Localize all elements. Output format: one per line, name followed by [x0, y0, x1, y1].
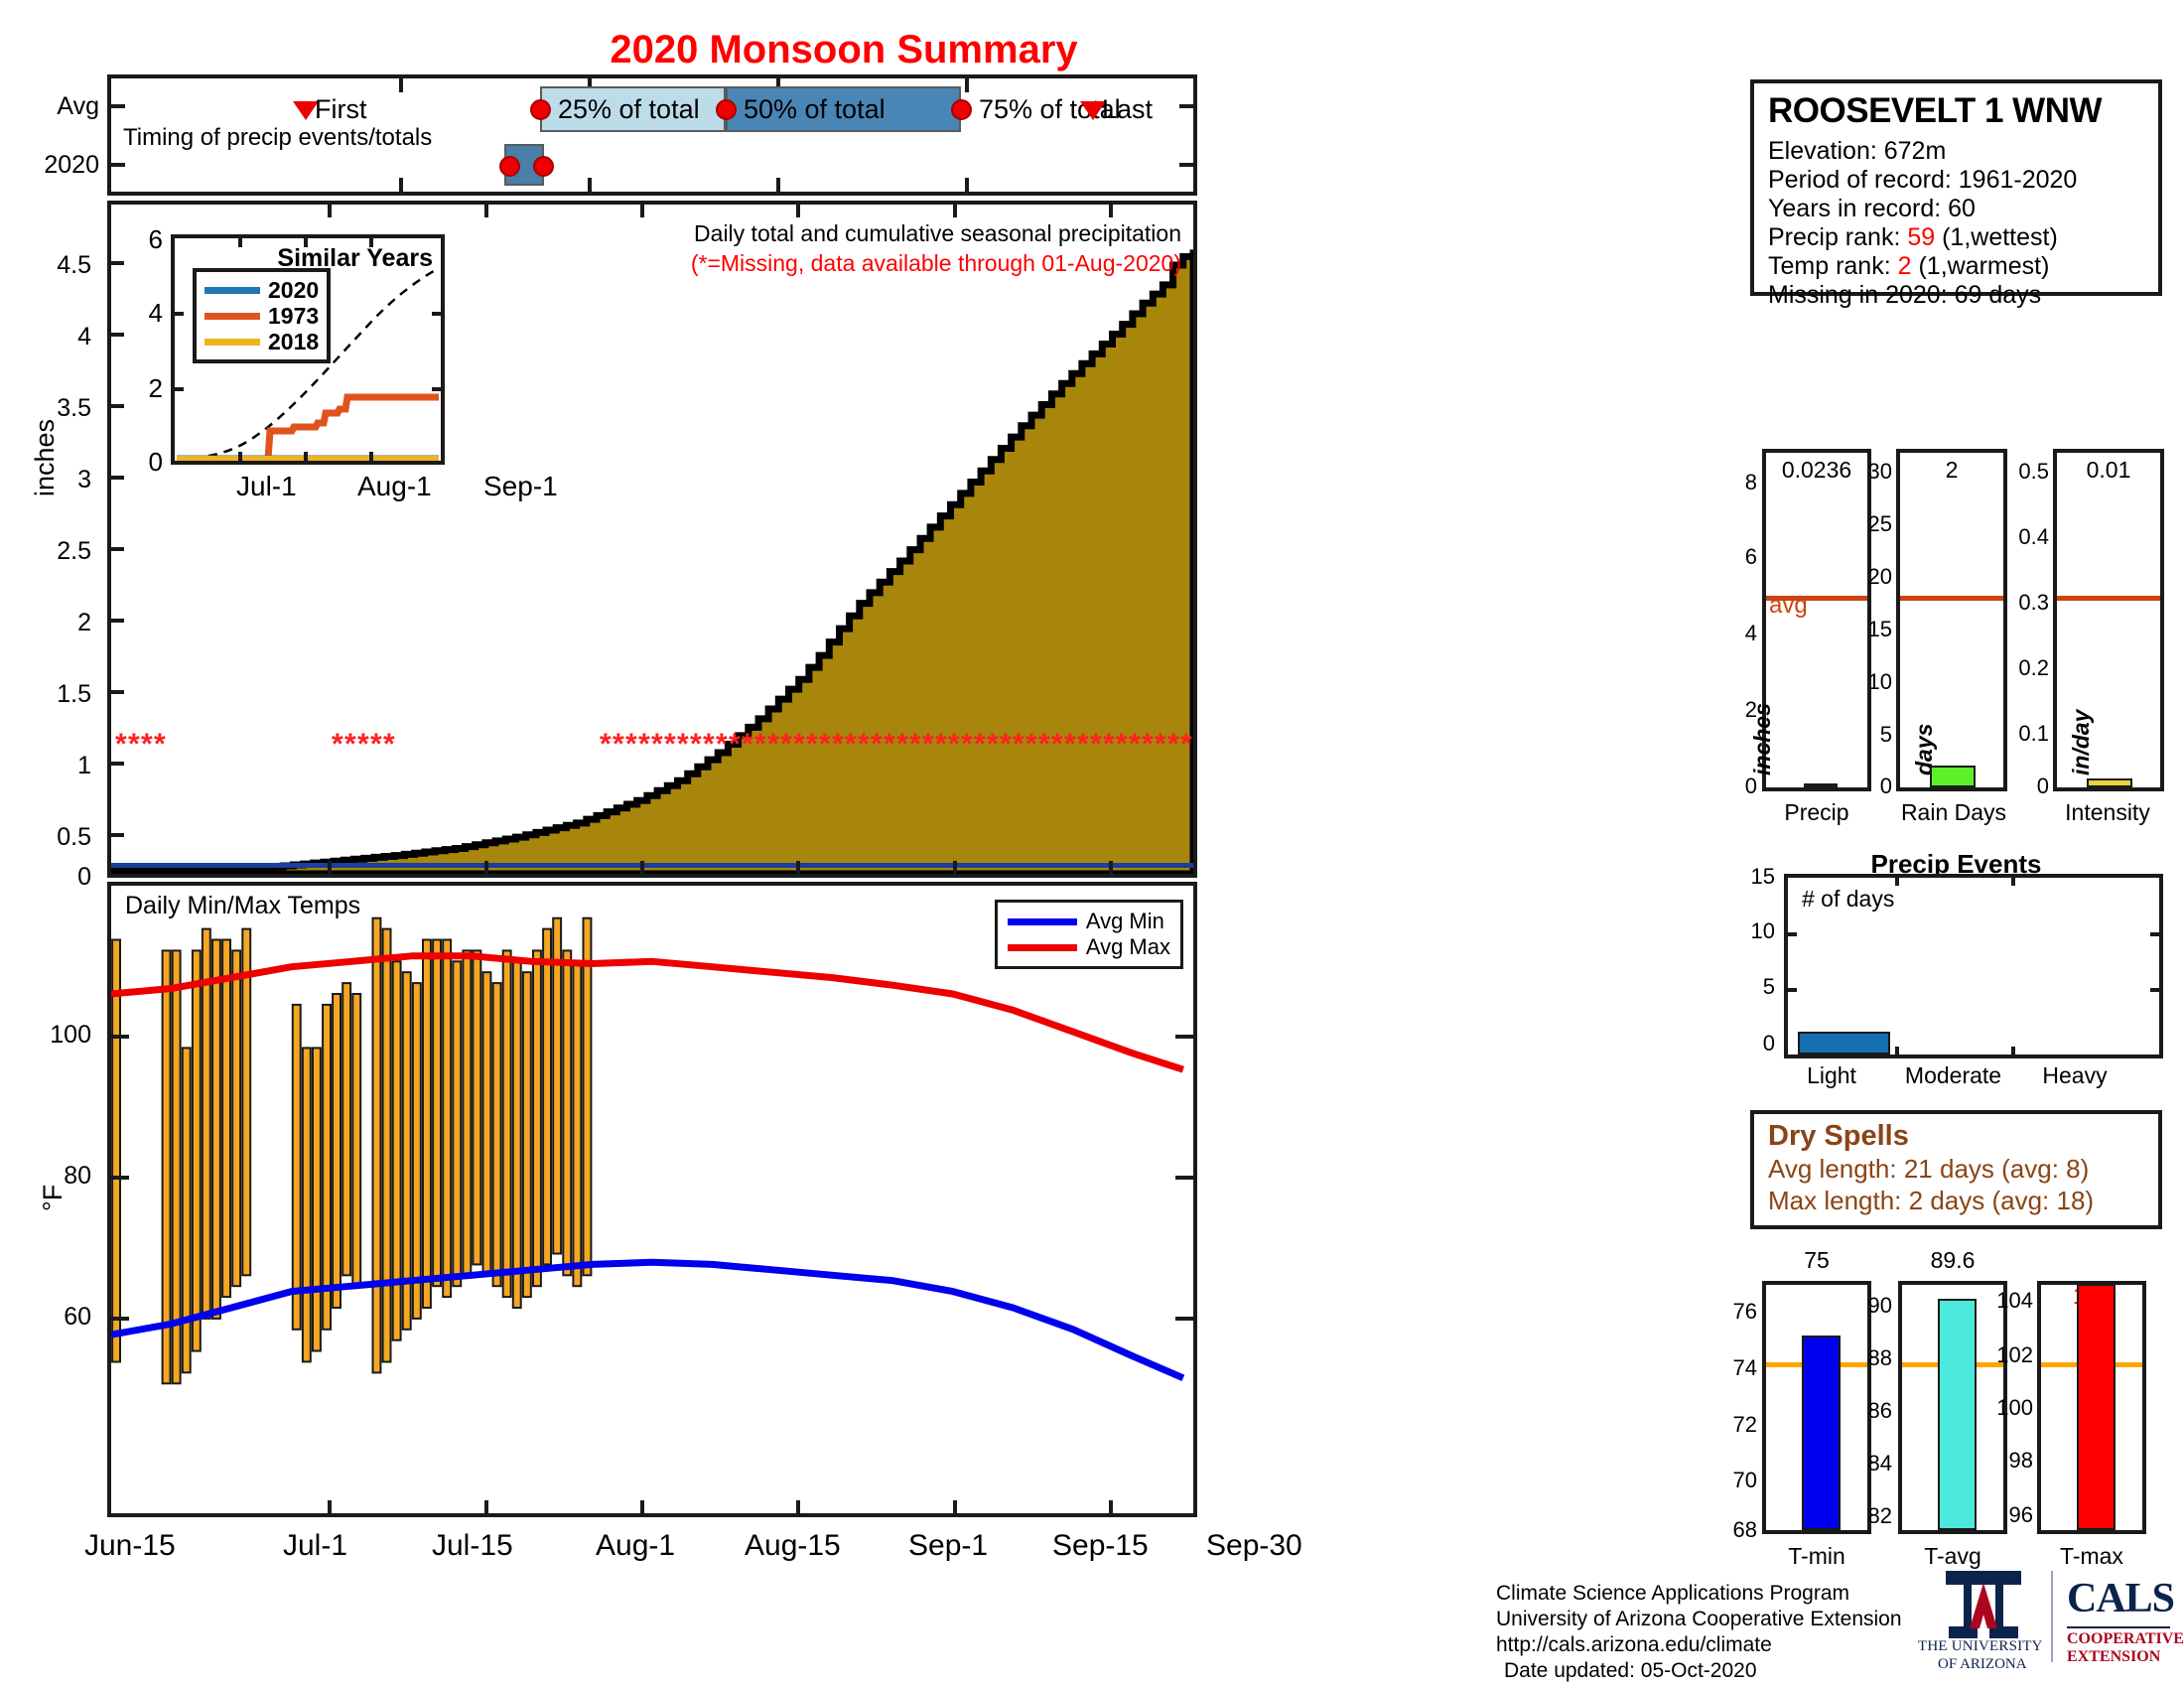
station-elevation: Elevation: 672m	[1768, 137, 2144, 166]
rain-days-ytick: 0	[1848, 774, 1892, 799]
precip-stat-label: Precip	[1762, 799, 1871, 826]
precip-tick	[111, 762, 124, 766]
t-max-bar	[2077, 1284, 2116, 1530]
precip-tick	[640, 205, 644, 217]
station-period: Period of record: 1961-2020	[1768, 166, 2144, 195]
missing-marker: *	[1116, 730, 1128, 760]
precip-tick	[111, 690, 124, 694]
logo-extension-text: EXTENSION	[2067, 1648, 2160, 1666]
precip-tick	[484, 861, 488, 874]
missing-marker: *	[141, 730, 153, 760]
legend-swatch-2018	[205, 339, 260, 346]
missing-marker: *	[909, 730, 921, 760]
precip-ytick: 1	[0, 752, 91, 780]
t-min-ytick: 74	[1723, 1355, 1757, 1381]
rain-days-stat-avg-line	[1900, 596, 2003, 601]
temp-range-bar	[212, 940, 220, 1319]
intensity-stat-value: 0.01	[2057, 457, 2160, 484]
pe-ytick: 10	[1729, 918, 1775, 944]
station-info-box: ROOSEVELT 1 WNW Elevation: 672m Period o…	[1750, 79, 2162, 296]
pe-cat-light: Light	[1777, 1062, 1886, 1089]
t-avg-label: T-avg	[1898, 1543, 2007, 1570]
footer-line-1: Climate Science Applications Program	[1496, 1581, 1902, 1607]
temp-ytick: 100	[0, 1021, 91, 1050]
temp-range-bar	[503, 950, 511, 1297]
missing-marker: *	[115, 730, 127, 760]
inset-legend: 2020 1973 2018	[193, 268, 331, 363]
pe-cat-heavy: Heavy	[2015, 1062, 2134, 1089]
precip-rank-suffix: (1,wettest)	[1935, 223, 2058, 251]
inset-ytick: 0	[117, 447, 163, 478]
dry-spells-box: Dry Spells Avg length: 21 days (avg: 8) …	[1750, 1110, 2162, 1229]
inset-tick	[304, 452, 308, 461]
legend-swatch-1973	[205, 313, 260, 320]
missing-marker: *	[1064, 730, 1076, 760]
t-min-label: T-min	[1762, 1543, 1871, 1570]
missing-marker: *	[332, 730, 343, 760]
timing-dot-50	[716, 99, 737, 120]
logo-cals-text: CALS	[2067, 1575, 2174, 1622]
legend-swatch-avg-min	[1008, 918, 1077, 925]
xaxis-tick: Sep-30	[1206, 1529, 1302, 1563]
missing-marker: *	[871, 730, 883, 760]
temp-range-bar	[323, 1005, 331, 1330]
t-max-chart: 104	[2037, 1281, 2146, 1534]
temp-range-bar	[383, 929, 391, 1362]
temp-range-bar	[493, 983, 501, 1286]
legend-item-2018: 2018	[205, 329, 319, 354]
rain-days-ytick: 5	[1848, 722, 1892, 748]
rain-days-ytick: 20	[1848, 564, 1892, 590]
t-min-ytick: 76	[1723, 1299, 1757, 1325]
rain-days-ytick: 15	[1848, 617, 1892, 642]
temp-range-bar	[553, 918, 561, 1254]
temp-range-bar	[463, 950, 471, 1275]
temp-tick	[796, 1500, 800, 1513]
precip-stat-bar	[1804, 783, 1838, 787]
missing-marker: *	[1129, 730, 1141, 760]
precip-stat-ytick: 2	[1729, 697, 1757, 723]
logo-cals-underline	[2067, 1626, 2170, 1628]
temp-legend: Avg Min Avg Max	[995, 900, 1183, 969]
pe-tick	[2150, 932, 2159, 936]
temp-tick	[111, 1035, 129, 1039]
t-min-bar	[1802, 1336, 1841, 1530]
missing-marker: *	[987, 730, 999, 760]
precip-stat-ytick: 6	[1729, 544, 1757, 570]
legend-item-1973: 1973	[205, 303, 319, 329]
missing-marker: *	[383, 730, 395, 760]
legend-item-avg-max: Avg Max	[1008, 934, 1170, 960]
inset-ytick: 6	[117, 224, 163, 255]
precip-tick	[953, 861, 957, 874]
dry-spells-max: Max length: 2 days (avg: 18)	[1768, 1185, 2144, 1216]
t-min-ytick: 72	[1723, 1412, 1757, 1438]
missing-marker: *	[1142, 730, 1154, 760]
temp-ytick: 60	[0, 1303, 91, 1332]
inset-xtick: Aug-1	[357, 471, 432, 502]
missing-marker: *	[729, 730, 741, 760]
temperature-chart-panel: Daily Min/Max Temps Avg Min Avg Max	[107, 882, 1197, 1517]
timing-dot-25	[530, 99, 551, 120]
timing-row-label-2020: 2020	[0, 151, 99, 180]
precip-ytick: 3.5	[0, 394, 91, 423]
legend-label-avg-min: Avg Min	[1086, 909, 1164, 934]
timing-tick	[111, 104, 125, 108]
timing-panel: 25% of total 50% of total 75% of total F…	[107, 74, 1197, 196]
timing-tick	[588, 178, 592, 192]
temp-range-bar	[513, 961, 521, 1308]
xaxis-tick: Sep-15	[1052, 1529, 1149, 1563]
temp-range-bar	[443, 940, 451, 1298]
precip-tick	[796, 205, 800, 217]
timing-caption: Timing of precip events/totals	[123, 124, 432, 152]
inset-tick	[369, 452, 373, 461]
t-max-label: T-max	[2037, 1543, 2146, 1570]
temp-range-bar	[423, 940, 431, 1309]
temp-range-bar	[163, 950, 171, 1383]
rain-days-ytick: 30	[1848, 459, 1892, 485]
precip-stat-avg-label: avg	[1769, 592, 1808, 620]
xaxis-tick: Aug-15	[745, 1529, 841, 1563]
legend-swatch-avg-max	[1008, 944, 1077, 951]
intensity-stat-avg-line	[2057, 596, 2160, 601]
timing-2020-last-dot	[533, 156, 554, 177]
legend-label-2018: 2018	[268, 329, 319, 355]
similar-years-inset: Similar Years 2020 1973 2018	[171, 234, 445, 465]
timing-tick	[776, 178, 780, 192]
xaxis-tick: Jul-15	[432, 1529, 513, 1563]
missing-marker: *	[948, 730, 960, 760]
timing-tick	[965, 178, 969, 192]
t-avg-ytick: 90	[1848, 1293, 1892, 1319]
temp-range-bar	[584, 918, 592, 1276]
pe-ytick: 15	[1729, 864, 1775, 890]
legend-25-label: 25% of total	[558, 94, 700, 125]
missing-marker: *	[961, 730, 973, 760]
timing-row-label-avg: Avg	[0, 92, 99, 121]
intensity-ytick: 0.1	[1993, 721, 2049, 747]
temp-range-bar	[303, 1048, 311, 1361]
precip-tick	[953, 205, 957, 217]
inset-xtick: Jul-1	[236, 471, 297, 502]
t-min-value: 75	[1766, 1247, 1867, 1274]
xaxis-tick: Aug-1	[596, 1529, 675, 1563]
temp-range-bar	[333, 994, 341, 1308]
missing-marker: *	[1000, 730, 1012, 760]
missing-marker: *	[767, 730, 779, 760]
pe-ytick: 0	[1729, 1031, 1775, 1056]
missing-marker: *	[1090, 730, 1102, 760]
precip-ytick: 0.5	[0, 823, 91, 852]
missing-marker: *	[1013, 730, 1024, 760]
precip-ytick: 0	[0, 863, 91, 892]
rain-days-stat-label: Rain Days	[1884, 799, 2023, 826]
t-avg-ytick: 88	[1848, 1345, 1892, 1371]
pe-tick	[1895, 878, 1899, 886]
t-avg-bar	[1938, 1299, 1977, 1530]
t-max-ytick: 100	[1985, 1395, 2033, 1421]
missing-marker: *	[716, 730, 728, 760]
footer-text: Climate Science Applications Program Uni…	[1496, 1581, 1902, 1684]
station-missing: Missing in 2020: 69 days	[1768, 281, 2144, 310]
station-name: ROOSEVELT 1 WNW	[1768, 91, 2144, 131]
precip-tick	[111, 404, 124, 408]
legend-label-2020: 2020	[268, 277, 319, 304]
legend-first-label: First	[315, 94, 366, 125]
missing-marker: *	[1077, 730, 1089, 760]
intensity-stat-chart: 0.01 in/day	[2053, 449, 2164, 791]
temp-range-bar	[573, 961, 581, 1286]
rain-days-ytick: 10	[1848, 669, 1892, 695]
missing-marker: *	[1167, 730, 1179, 760]
temp-tick	[111, 1317, 129, 1321]
missing-marker: *	[806, 730, 818, 760]
missing-marker: *	[884, 730, 895, 760]
temp-range-bar	[232, 950, 240, 1286]
temp-tick	[328, 1500, 332, 1513]
pe-tick	[2150, 988, 2159, 992]
logo-arizona-text: OF ARIZONA	[1938, 1656, 2027, 1673]
temp-range-bar	[433, 940, 441, 1287]
rain-days-stat-chart: 2 days	[1896, 449, 2007, 791]
precip-tick	[1109, 861, 1113, 874]
missing-marker: *	[1180, 730, 1192, 760]
missing-marker: *	[1025, 730, 1037, 760]
missing-marker: *	[128, 730, 140, 760]
missing-marker: *	[974, 730, 986, 760]
precip-ytick: 4.5	[0, 251, 91, 280]
precip-ytick: 1.5	[0, 680, 91, 709]
pe-cat-moderate: Moderate	[1886, 1062, 2020, 1089]
missing-marker: *	[935, 730, 947, 760]
precip-stat-ytick: 0	[1729, 774, 1757, 799]
precip-annotation-1: Daily total and cumulative seasonal prec…	[387, 220, 1181, 247]
temp-tick	[111, 1176, 129, 1180]
temp-tick	[1175, 1317, 1193, 1321]
precip-events-bar-light	[1798, 1032, 1890, 1055]
legend-50-label: 50% of total	[744, 94, 886, 125]
precip-rank-value: 59	[1907, 223, 1935, 251]
temperature-plot	[111, 886, 1193, 1513]
temp-range-bar	[373, 918, 381, 1373]
missing-marker: *	[690, 730, 702, 760]
inset-ytick: 2	[117, 373, 163, 404]
timing-2020-first-dot	[499, 156, 520, 177]
missing-marker: *	[832, 730, 844, 760]
inset-ytick: 4	[117, 298, 163, 329]
precip-tick	[484, 205, 488, 217]
missing-marker: *	[625, 730, 637, 760]
timing-tick	[111, 163, 125, 167]
inset-tick	[238, 452, 242, 461]
precip-tick	[111, 333, 124, 337]
precip-tick	[111, 833, 124, 837]
t-avg-value: 89.6	[1902, 1247, 2003, 1274]
missing-marker: *	[780, 730, 792, 760]
t-max-ytick: 102	[1985, 1342, 2033, 1368]
precip-tick	[111, 261, 124, 265]
missing-marker: *	[638, 730, 650, 760]
missing-marker: *	[858, 730, 870, 760]
temp-range-bar	[543, 929, 551, 1265]
missing-marker: *	[677, 730, 689, 760]
temp-range-bar	[453, 961, 461, 1286]
missing-marker: *	[793, 730, 805, 760]
inset-tick	[175, 387, 184, 391]
missing-marker: *	[896, 730, 908, 760]
temp-range-bar	[413, 983, 421, 1319]
temp-rank-suffix: (1,warmest)	[1912, 252, 2050, 280]
legend-swatch-2020	[205, 287, 260, 294]
logo-divider	[2051, 1571, 2053, 1662]
missing-marker: *	[845, 730, 857, 760]
dry-spells-title: Dry Spells	[1768, 1120, 2144, 1153]
intensity-ytick: 0.4	[1993, 524, 2049, 550]
temp-tick	[953, 1500, 957, 1513]
missing-marker: *	[1155, 730, 1166, 760]
intensity-ytick: 0.2	[1993, 655, 2049, 681]
ua-logo-icon	[1924, 1567, 2043, 1644]
temp-tick	[484, 1500, 488, 1513]
temp-tick	[640, 1500, 644, 1513]
temp-range-bar	[112, 940, 120, 1362]
station-temp-rank: Temp rank: 2 (1,warmest)	[1768, 252, 2144, 281]
temp-rank-value: 2	[1898, 252, 1912, 280]
pe-tick	[1788, 988, 1797, 992]
missing-marker: *	[1038, 730, 1050, 760]
missing-marker: *	[344, 730, 356, 760]
temp-range-bar	[242, 929, 250, 1276]
t-min-ytick: 68	[1723, 1517, 1757, 1543]
temp-range-bar	[473, 950, 480, 1264]
missing-marker: *	[154, 730, 166, 760]
legend-item-avg-min: Avg Min	[1008, 909, 1170, 934]
missing-marker: *	[754, 730, 766, 760]
missing-marker: *	[651, 730, 663, 760]
dry-spells-avg: Avg length: 21 days (avg: 8)	[1768, 1153, 2144, 1185]
inset-xtick: Sep-1	[483, 471, 558, 502]
footer-line-2: University of Arizona Cooperative Extens…	[1496, 1607, 1902, 1632]
intensity-ytick: 0	[2010, 774, 2049, 799]
pe-tick	[1895, 1047, 1899, 1055]
intensity-ytick: 0.3	[1993, 590, 2049, 616]
pe-tick	[1788, 932, 1797, 936]
legend-last-label: Last	[1102, 94, 1153, 125]
precip-rank-prefix: Precip rank:	[1768, 223, 1907, 251]
temp-range-bar	[313, 1048, 321, 1350]
xaxis-tick: Sep-1	[908, 1529, 988, 1563]
rain-days-stat-value: 2	[1900, 457, 2003, 484]
precip-ytick: 2	[0, 609, 91, 637]
logo-group: THE UNIVERSITY OF ARIZONA CALS COOPERATI…	[1924, 1567, 2172, 1671]
timing-tick	[399, 178, 403, 192]
missing-marker: *	[922, 730, 934, 760]
inset-tick	[432, 387, 441, 391]
t-max-ytick: 104	[1985, 1288, 2033, 1314]
pe-tick	[2011, 878, 2015, 886]
temp-range-bar	[403, 972, 411, 1330]
precip-tick	[111, 547, 124, 551]
t-max-ytick: 96	[1993, 1502, 2033, 1528]
temp-range-bar	[293, 1005, 301, 1330]
precip-events-note: # of days	[1802, 886, 1894, 913]
legend-label-avg-max: Avg Max	[1086, 934, 1170, 960]
precip-stat-ytick: 8	[1729, 470, 1757, 495]
temp-tick	[1175, 1176, 1193, 1180]
legend-item-2020: 2020	[205, 277, 319, 303]
intensity-stat-unit: in/day	[2068, 710, 2095, 775]
footer-line-4: Date updated: 05-Oct-2020	[1496, 1658, 1902, 1684]
temp-caption: Daily Min/Max Temps	[125, 892, 360, 920]
logo-university-text: THE UNIVERSITY	[1918, 1638, 2043, 1655]
legend-label-1973: 1973	[268, 303, 319, 330]
temp-tick	[1175, 1035, 1193, 1039]
inset-tick	[175, 312, 184, 316]
rain-days-ytick: 25	[1848, 511, 1892, 537]
timing-dot-75	[951, 99, 972, 120]
xaxis-tick: Jul-1	[283, 1529, 347, 1563]
inset-tick	[238, 238, 242, 247]
station-years: Years in record: 60	[1768, 195, 2144, 223]
precip-events-chart: # of days	[1784, 874, 2163, 1058]
missing-data-markers: ****************************************…	[111, 730, 1193, 760]
temp-range-bar	[533, 950, 541, 1286]
temp-range-bar	[342, 983, 350, 1275]
missing-marker: *	[819, 730, 831, 760]
missing-marker: *	[370, 730, 382, 760]
t-avg-ytick: 86	[1848, 1398, 1892, 1424]
precip-tick	[111, 619, 124, 623]
inset-tick	[432, 312, 441, 316]
precip-annotation-2: (*=Missing, data available through 01-Au…	[387, 250, 1181, 277]
timing-tick	[1179, 163, 1193, 167]
pe-ytick: 5	[1729, 974, 1775, 1000]
daily-precip-trace	[111, 863, 1193, 868]
missing-marker: *	[703, 730, 715, 760]
t-max-ytick: 98	[1993, 1448, 2033, 1474]
xaxis-tick: Jun-15	[84, 1529, 176, 1563]
temp-range-bar	[523, 972, 531, 1297]
pe-tick	[2011, 1047, 2015, 1055]
t-min-ytick: 70	[1723, 1468, 1757, 1493]
missing-marker: *	[742, 730, 753, 760]
missing-marker: *	[1103, 730, 1115, 760]
t-avg-ytick: 82	[1848, 1503, 1892, 1529]
precip-tick	[328, 205, 332, 217]
precip-tick	[1109, 205, 1113, 217]
timing-tick	[965, 78, 969, 92]
missing-marker: *	[1051, 730, 1063, 760]
temp-range-bar	[483, 972, 491, 1275]
timing-tick	[1179, 104, 1193, 108]
temp-range-bar	[193, 950, 201, 1350]
intensity-ytick: 0.5	[1993, 459, 2049, 485]
precip-ytick: 2.5	[0, 537, 91, 566]
footer-line-3[interactable]: http://cals.arizona.edu/climate	[1496, 1632, 1902, 1658]
precip-tick	[328, 861, 332, 874]
precip-ytick: 4	[0, 323, 91, 352]
missing-marker: *	[600, 730, 612, 760]
precip-tick	[796, 861, 800, 874]
missing-marker: *	[664, 730, 676, 760]
missing-marker: *	[613, 730, 624, 760]
page-title: 2020 Monsoon Summary	[0, 28, 1688, 72]
intensity-stat-bar	[2087, 778, 2132, 787]
timing-tick	[399, 78, 403, 92]
temp-range-bar	[222, 940, 230, 1298]
intensity-stat-label: Intensity	[2043, 799, 2172, 826]
